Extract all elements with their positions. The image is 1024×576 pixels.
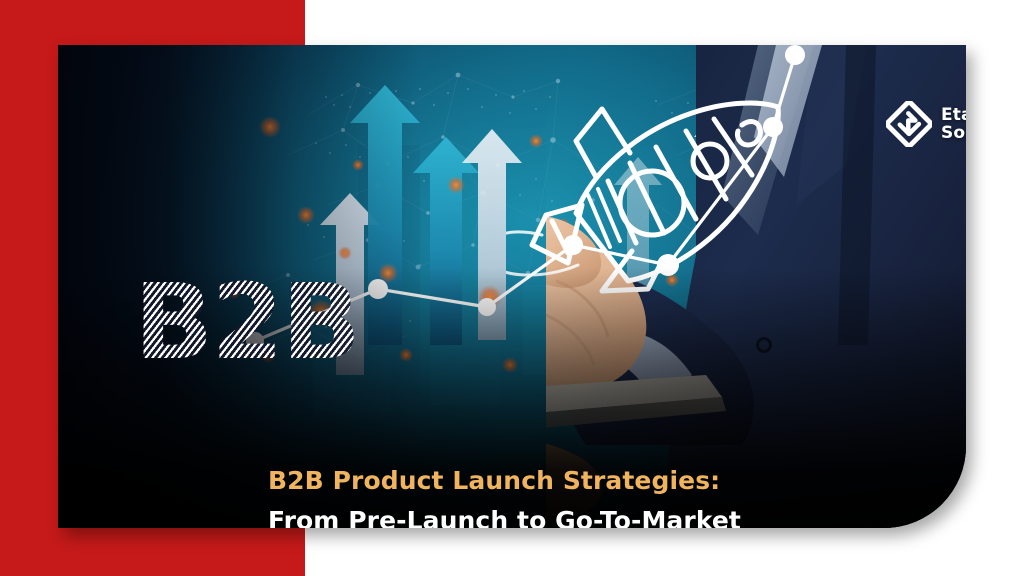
banner-canvas: B2B B2B Product Launch Strategies: From …: [0, 0, 1024, 576]
title-line-secondary: From Pre-Launch to Go-To-Market: [268, 503, 966, 529]
title-line-primary: B2B Product Launch Strategies:: [268, 463, 966, 499]
brand-logo[interactable]: Eta Solution: [886, 101, 966, 147]
banner-card: B2B B2B Product Launch Strategies: From …: [58, 45, 966, 528]
title-block: B2B Product Launch Strategies: From Pre-…: [268, 463, 966, 528]
brand-name: Eta Solution: [941, 106, 966, 143]
diamond-checkmark-icon: [886, 101, 932, 147]
brand-name-line-1: Eta: [941, 106, 966, 124]
brand-name-line-2: Solution: [941, 124, 966, 142]
b2b-wordmark: B2B: [134, 270, 359, 374]
